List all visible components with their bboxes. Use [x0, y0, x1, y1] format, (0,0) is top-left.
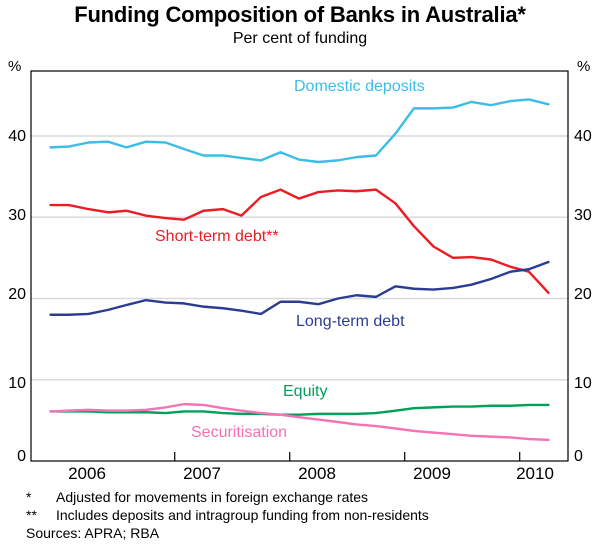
series-label-securitisation: Securitisation [191, 424, 287, 442]
plot-frame [31, 71, 568, 461]
series-line-short-term-debt [51, 190, 549, 293]
chart-figure: Funding Composition of Banks in Australi… [0, 0, 600, 548]
footnotes: * Adjusted for movements in foreign exch… [26, 488, 586, 542]
series-label-equity: Equity [283, 383, 327, 401]
x-axis-ticks [175, 452, 520, 461]
footnote-2-marker: ** [26, 506, 56, 524]
footnote-2-text: Includes deposits and intragroup funding… [56, 506, 586, 524]
series-label-domestic-deposits: Domestic deposits [294, 78, 425, 96]
footnote-1-marker: * [26, 488, 56, 506]
sources-text: Sources: APRA; RBA [26, 524, 586, 542]
footnote-2: ** Includes deposits and intragroup fund… [26, 506, 586, 524]
footnote-1: * Adjusted for movements in foreign exch… [26, 488, 586, 506]
series-label-long-term-debt: Long-term debt [296, 313, 405, 331]
series-line-long-term-debt [51, 262, 549, 315]
footnote-1-text: Adjusted for movements in foreign exchan… [56, 488, 586, 506]
series-line-securitisation [51, 404, 549, 440]
series-line-domestic-deposits [51, 99, 549, 162]
series-label-short-term-debt: Short-term debt** [155, 228, 279, 246]
